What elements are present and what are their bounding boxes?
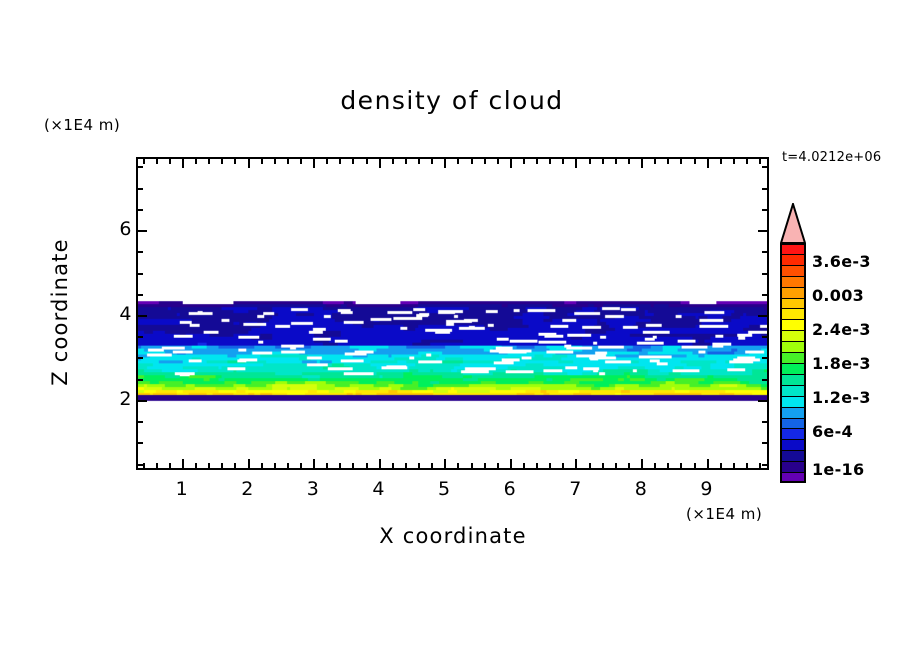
tick-mark [221, 159, 223, 164]
density-heatmap [138, 159, 767, 468]
tick-mark [762, 166, 767, 168]
tick-mark [510, 159, 512, 168]
tick-mark [759, 463, 761, 468]
tick-mark [497, 159, 499, 164]
y-tick-label: 2 [92, 388, 132, 410]
tick-mark [138, 273, 143, 275]
colorbar-band [780, 352, 806, 363]
tick-mark [562, 463, 564, 468]
tick-mark [195, 463, 197, 468]
tick-mark [641, 159, 643, 168]
tick-mark [549, 159, 551, 164]
tick-mark [352, 159, 354, 164]
tick-mark [138, 188, 143, 190]
tick-mark [392, 159, 394, 164]
colorbar-band [780, 265, 806, 276]
tick-mark [484, 463, 486, 468]
tick-mark [182, 159, 184, 168]
colorbar-band [780, 276, 806, 287]
y-axis-title: Z coordinate [48, 192, 72, 432]
colorbar-band [780, 418, 806, 428]
tick-mark [762, 294, 767, 296]
tick-mark [379, 459, 381, 468]
tick-mark [758, 315, 767, 317]
tick-mark [562, 159, 564, 164]
tick-mark [138, 166, 143, 168]
tick-mark [261, 159, 263, 164]
tick-mark [667, 463, 669, 468]
tick-mark [759, 159, 761, 164]
tick-mark [138, 357, 143, 359]
tick-mark [733, 463, 735, 468]
tick-mark [615, 463, 617, 468]
tick-mark [523, 463, 525, 468]
tick-mark [536, 463, 538, 468]
tick-mark [313, 459, 315, 468]
tick-mark [261, 463, 263, 468]
y-tick-label: 4 [92, 303, 132, 325]
tick-mark [221, 463, 223, 468]
tick-mark [457, 463, 459, 468]
colorbar-tick-label: 1.2e-3 [812, 388, 871, 407]
tick-mark [234, 159, 236, 164]
colorbar-band [780, 407, 806, 418]
tick-mark [138, 336, 143, 338]
tick-mark [313, 159, 315, 168]
tick-mark [654, 463, 656, 468]
tick-mark [589, 159, 591, 164]
tick-mark [169, 463, 171, 468]
x-axis-unit-label: (×1E4 m) [686, 505, 762, 523]
colorbar-band [780, 363, 806, 374]
tick-mark [138, 230, 147, 232]
tick-mark [575, 159, 577, 168]
tick-mark [762, 336, 767, 338]
tick-mark [602, 159, 604, 164]
tick-mark [762, 379, 767, 381]
tick-mark [156, 463, 158, 468]
tick-mark [484, 159, 486, 164]
tick-mark [575, 459, 577, 468]
tick-mark [138, 294, 143, 296]
tick-mark [720, 159, 722, 164]
tick-mark [720, 463, 722, 468]
tick-mark [182, 459, 184, 468]
time-annotation: t=4.0212e+06 [782, 150, 881, 165]
x-tick-label: 1 [162, 478, 202, 500]
colorbar-tick-label: 1.8e-3 [812, 354, 871, 373]
tick-mark [628, 159, 630, 164]
tick-mark [707, 459, 709, 468]
tick-mark [589, 463, 591, 468]
tick-mark [379, 159, 381, 168]
tick-mark [549, 463, 551, 468]
tick-mark [758, 230, 767, 232]
tick-mark [602, 463, 604, 468]
colorbar-band [780, 298, 806, 308]
colorbar-band [780, 374, 806, 385]
tick-mark [457, 159, 459, 164]
y-tick-label: 6 [92, 218, 132, 240]
tick-mark [523, 159, 525, 164]
tick-mark [762, 442, 767, 444]
tick-mark [195, 159, 197, 164]
tick-mark [366, 463, 368, 468]
tick-mark [405, 463, 407, 468]
colorbar-band [780, 341, 806, 352]
x-tick-label: 7 [555, 478, 595, 500]
tick-mark [536, 159, 538, 164]
tick-mark [497, 463, 499, 468]
colorbar-band [780, 254, 806, 265]
tick-mark [762, 421, 767, 423]
colorbar-band [780, 308, 806, 319]
x-tick-label: 9 [687, 478, 727, 500]
colorbar-band [780, 450, 806, 461]
tick-mark [762, 464, 767, 466]
tick-mark [287, 159, 289, 164]
tick-mark [138, 251, 143, 253]
tick-mark [758, 400, 767, 402]
tick-mark [762, 357, 767, 359]
y-axis-unit-label: (×1E4 m) [44, 116, 120, 134]
colorbar-tick-label: 6e-4 [812, 422, 853, 441]
tick-mark [234, 463, 236, 468]
colorbar-band [780, 461, 806, 472]
colorbar-band [780, 330, 806, 341]
tick-mark [733, 159, 735, 164]
tick-mark [707, 159, 709, 168]
colorbar-tick-label: 2.4e-3 [812, 320, 871, 339]
x-axis-title: X coordinate [136, 524, 770, 548]
tick-mark [143, 159, 145, 164]
colorbar-over-arrow [780, 203, 806, 244]
tick-mark [762, 209, 767, 211]
x-tick-label: 2 [228, 478, 268, 500]
colorbar-tick-label: 0.003 [812, 286, 864, 305]
tick-mark [444, 459, 446, 468]
colorbar[interactable] [780, 243, 806, 483]
tick-mark [300, 463, 302, 468]
tick-mark [287, 463, 289, 468]
tick-mark [339, 159, 341, 164]
tick-mark [392, 463, 394, 468]
tick-mark [654, 159, 656, 164]
tick-mark [615, 159, 617, 164]
tick-mark [471, 159, 473, 164]
tick-mark [418, 463, 420, 468]
colorbar-band [780, 287, 806, 298]
tick-mark [680, 159, 682, 164]
tick-mark [366, 159, 368, 164]
tick-mark [694, 159, 696, 164]
tick-mark [138, 315, 147, 317]
colorbar-band [780, 319, 806, 330]
tick-mark [680, 463, 682, 468]
colorbar-band [780, 428, 806, 439]
tick-mark [274, 159, 276, 164]
x-tick-label: 6 [490, 478, 530, 500]
tick-mark [143, 463, 145, 468]
colorbar-band [780, 396, 806, 407]
tick-mark [628, 463, 630, 468]
plot-area[interactable] [136, 157, 769, 470]
tick-mark [156, 159, 158, 164]
tick-mark [138, 464, 143, 466]
colorbar-tick-label: 1e-16 [812, 460, 864, 479]
tick-mark [138, 209, 143, 211]
tick-mark [746, 463, 748, 468]
tick-mark [444, 159, 446, 168]
tick-mark [418, 159, 420, 164]
tick-mark [641, 459, 643, 468]
tick-mark [431, 463, 433, 468]
tick-mark [405, 159, 407, 164]
tick-mark [746, 159, 748, 164]
tick-mark [667, 159, 669, 164]
tick-mark [138, 442, 143, 444]
colorbar-band [780, 243, 806, 254]
tick-mark [431, 159, 433, 164]
colorbar-band [780, 472, 806, 483]
x-tick-label: 4 [359, 478, 399, 500]
tick-mark [248, 159, 250, 168]
tick-mark [138, 400, 147, 402]
tick-mark [208, 159, 210, 164]
tick-mark [762, 251, 767, 253]
tick-mark [762, 273, 767, 275]
tick-mark [352, 463, 354, 468]
x-tick-label: 3 [293, 478, 333, 500]
colorbar-band [780, 439, 806, 450]
tick-mark [326, 159, 328, 164]
tick-mark [274, 463, 276, 468]
tick-mark [694, 463, 696, 468]
tick-mark [169, 159, 171, 164]
tick-mark [138, 379, 143, 381]
colorbar-band [780, 385, 806, 396]
colorbar-tick-label: 3.6e-3 [812, 252, 871, 271]
tick-mark [326, 463, 328, 468]
tick-mark [208, 463, 210, 468]
tick-mark [138, 421, 143, 423]
figure-canvas: density of cloud (×1E4 m) (×1E4 m) X coo… [0, 0, 904, 654]
tick-mark [300, 159, 302, 164]
chart-title: density of cloud [0, 86, 904, 115]
tick-mark [339, 463, 341, 468]
tick-mark [510, 459, 512, 468]
x-tick-label: 8 [621, 478, 661, 500]
colorbar-arrow-icon [780, 203, 806, 244]
tick-mark [762, 188, 767, 190]
x-tick-label: 5 [424, 478, 464, 500]
tick-mark [248, 459, 250, 468]
tick-mark [471, 463, 473, 468]
